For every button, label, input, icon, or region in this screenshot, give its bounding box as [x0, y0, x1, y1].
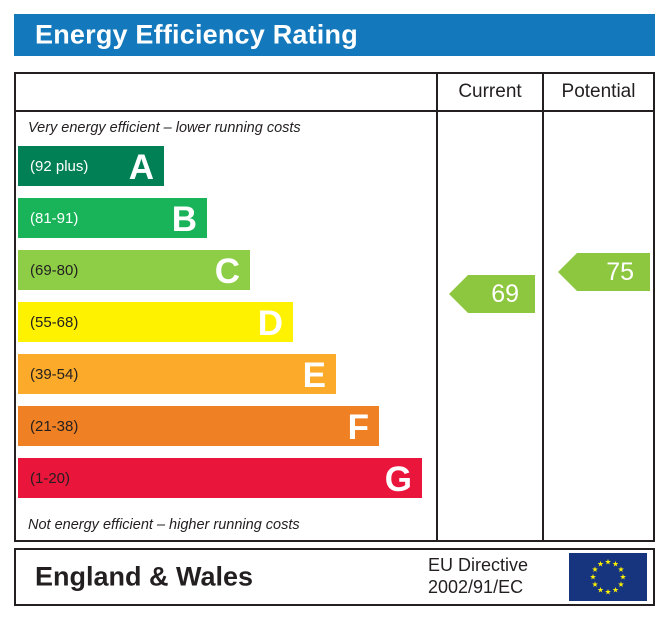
rating-marker-current: 69 [449, 275, 535, 313]
band-range-a: (92 plus) [30, 159, 88, 174]
band-range-e: (39-54) [30, 367, 78, 382]
table-header-row: Current Potential [16, 74, 653, 112]
band-row-e: (39-54)E [18, 354, 336, 394]
footer-directive-line2: 2002/91/EC [428, 577, 528, 599]
footer-bar: England & Wales EU Directive 2002/91/EC [14, 548, 655, 606]
rating-marker-potential: 75 [558, 253, 650, 291]
column-header-current-label: Current [458, 81, 521, 103]
rating-table: Current Potential Very energy efficient … [14, 72, 655, 542]
band-range-b: (81-91) [30, 211, 78, 226]
footer-directive: EU Directive 2002/91/EC [428, 555, 528, 599]
column-header-potential: Potential [542, 74, 653, 110]
footer-directive-line1: EU Directive [428, 555, 528, 577]
band-letter-c: C [215, 254, 240, 289]
band-row-d: (55-68)D [18, 302, 293, 342]
column-divider-current [436, 112, 438, 540]
chart-title-bar: Energy Efficiency Rating [14, 14, 655, 56]
band-range-f: (21-38) [30, 419, 78, 434]
band-letter-b: B [172, 202, 197, 237]
band-range-d: (55-68) [30, 315, 78, 330]
column-header-current: Current [436, 74, 542, 110]
band-row-g: (1-20)G [18, 458, 422, 498]
column-header-potential-label: Potential [562, 81, 636, 103]
band-row-a: (92 plus)A [18, 146, 164, 186]
band-letter-f: F [348, 410, 369, 445]
page-title: Energy Efficiency Rating [35, 20, 358, 51]
rating-marker-current-value: 69 [491, 282, 535, 307]
band-letter-d: D [258, 306, 283, 341]
band-range-g: (1-20) [30, 471, 70, 486]
band-row-b: (81-91)B [18, 198, 207, 238]
footer-region-label: England & Wales [35, 562, 253, 593]
band-range-c: (69-80) [30, 263, 78, 278]
rating-marker-potential-value: 75 [606, 260, 650, 285]
band-letter-g: G [385, 462, 412, 497]
band-letter-e: E [303, 358, 326, 393]
eu-flag-icon [569, 553, 647, 601]
bands-area: Very energy efficient – lower running co… [16, 112, 436, 540]
caption-very-efficient: Very energy efficient – lower running co… [28, 120, 301, 136]
band-row-c: (69-80)C [18, 250, 250, 290]
caption-not-efficient: Not energy efficient – higher running co… [28, 517, 300, 533]
band-row-f: (21-38)F [18, 406, 379, 446]
energy-efficiency-certificate: Energy Efficiency Rating Current Potenti… [0, 0, 670, 627]
band-letter-a: A [129, 150, 154, 185]
column-divider-potential [542, 112, 544, 540]
